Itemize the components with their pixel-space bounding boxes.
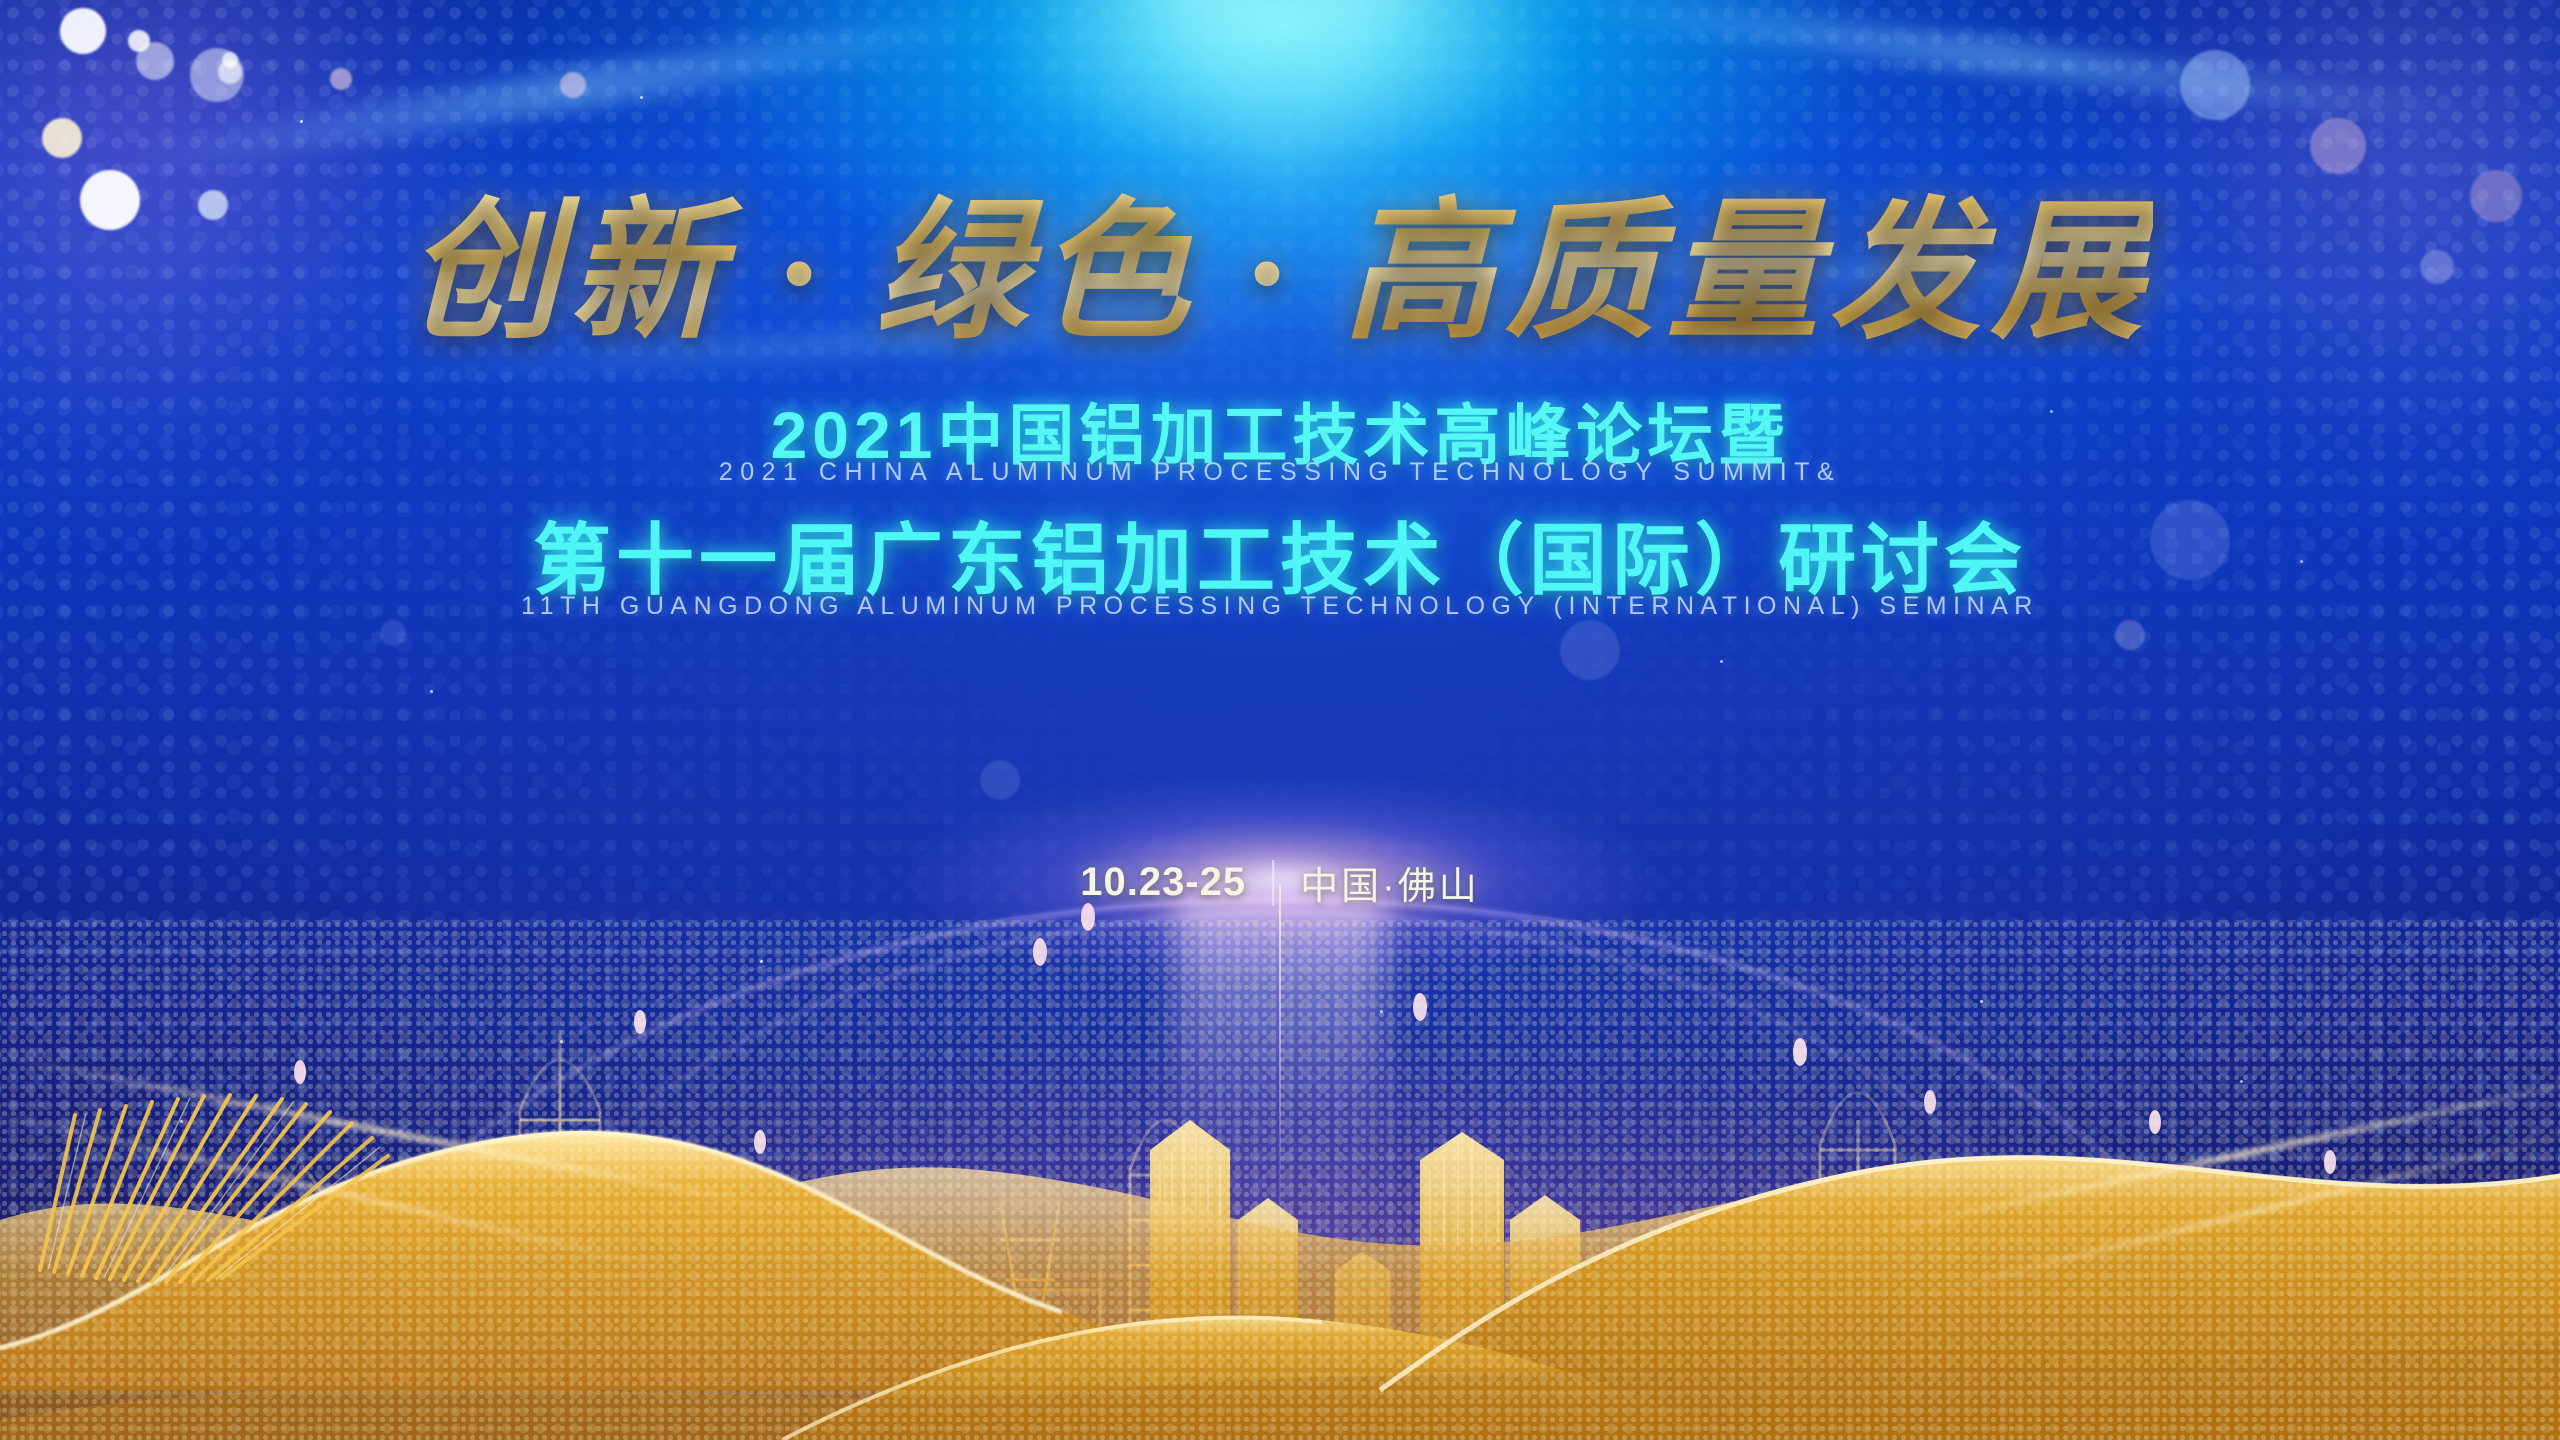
conference-banner: 创新 · 绿色 · 高质量发展 2021中国铝加工技术高峰论坛暨 2021 CH… (0, 0, 2560, 1440)
meta-separator (1272, 860, 1274, 906)
text-block: 创新 · 绿色 · 高质量发展 2021中国铝加工技术高峰论坛暨 2021 CH… (0, 0, 2560, 1440)
headline-english-primary: 2021 CHINA ALUMINUM PROCESSING TECHNOLOG… (719, 458, 1841, 487)
headline-english-secondary: 11TH GUANGDONG ALUMINUM PROCESSING TECHN… (521, 592, 2039, 621)
event-date: 10.23-25 (1080, 860, 1246, 905)
theme-calligraphy: 创新 · 绿色 · 高质量发展 (407, 148, 2153, 368)
event-location: 中国·佛山 (1300, 855, 1480, 910)
event-meta: 10.23-25 中国·佛山 (1080, 855, 1480, 910)
